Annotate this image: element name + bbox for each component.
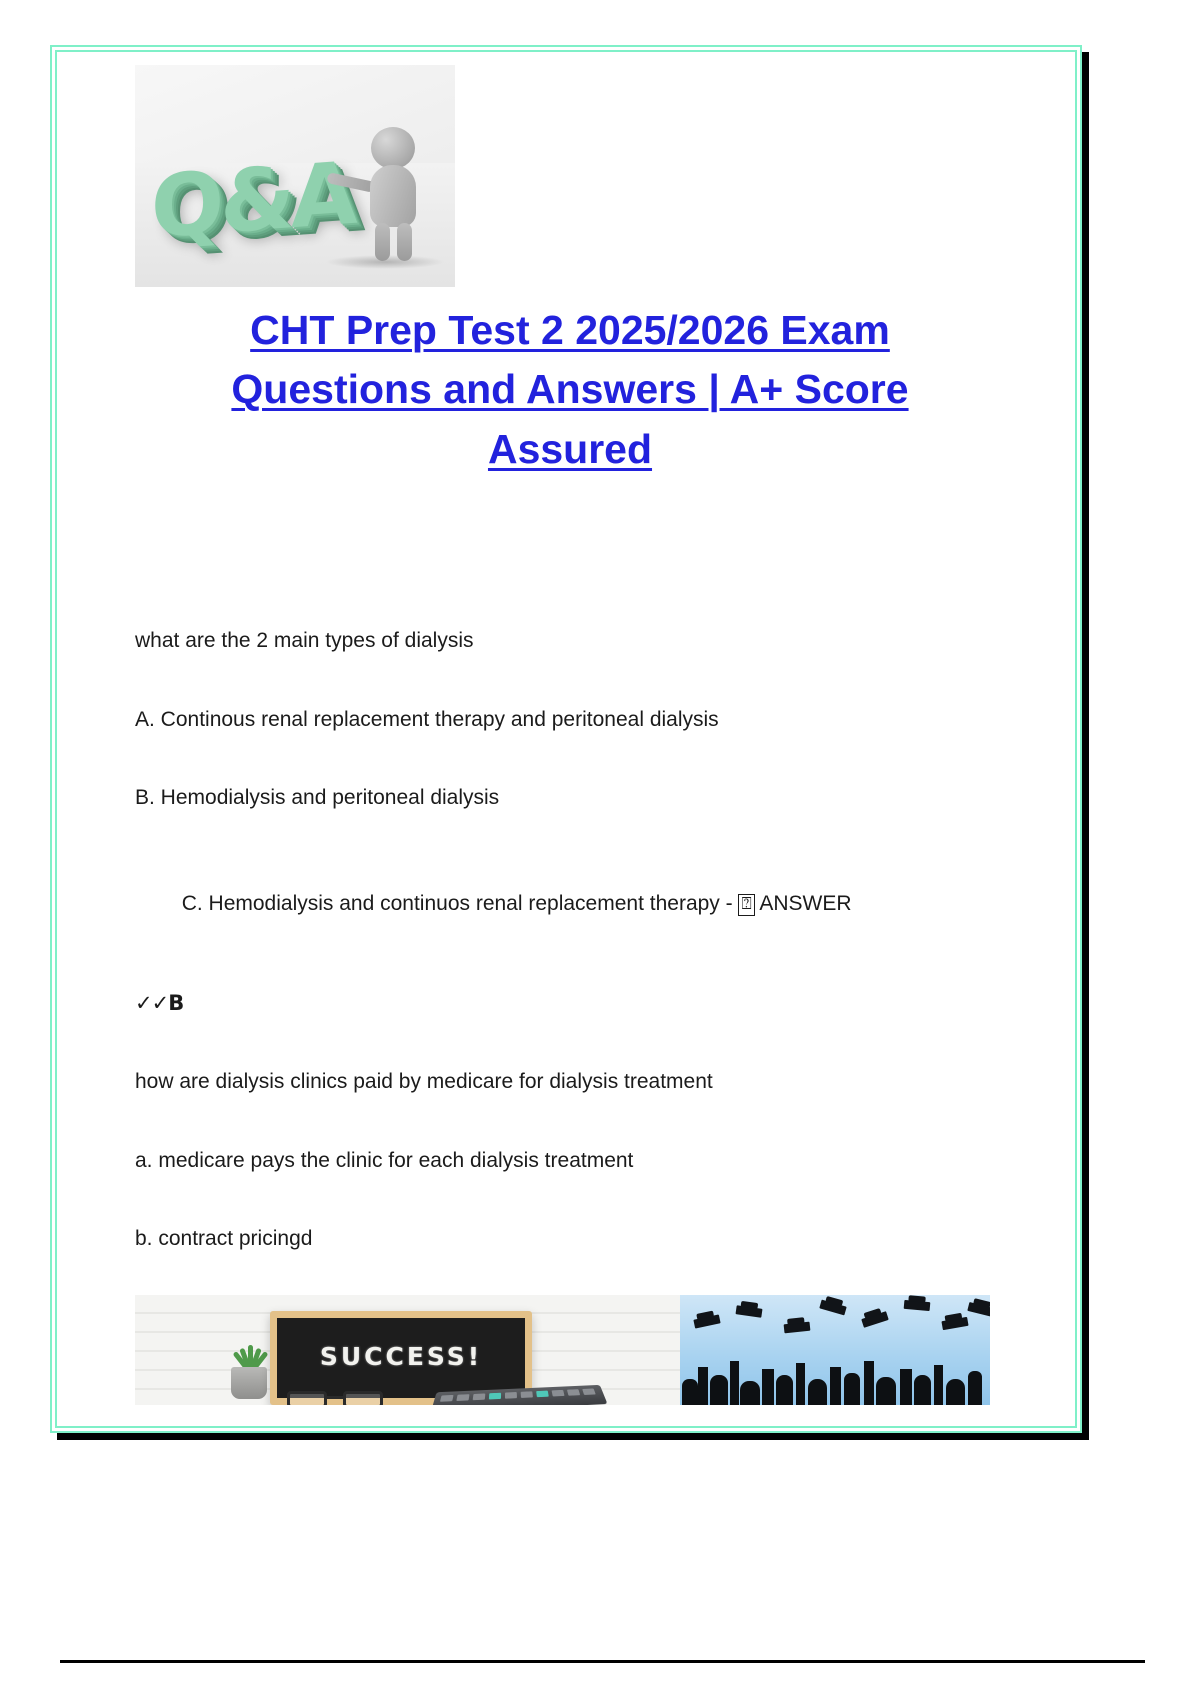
qa-letters-text: Q&A xyxy=(151,144,354,258)
grad-cap-icon xyxy=(941,1317,968,1330)
plant-pot-icon xyxy=(231,1367,267,1399)
question-1-option-c-text: C. Hemodialysis and continuos renal repl… xyxy=(182,892,739,915)
chalkboard-text: SUCCESS! xyxy=(277,1342,525,1371)
success-chalkboard-image: SUCCESS! xyxy=(135,1295,680,1405)
question-1-option-a: A. Continous renal replacement therapy a… xyxy=(135,706,1005,733)
grad-cap-icon xyxy=(967,1302,990,1317)
grad-cap-icon xyxy=(784,1322,811,1334)
question-1-stem: what are the 2 main types of dialysis xyxy=(135,627,1005,654)
graduation-caps-image xyxy=(680,1295,990,1405)
page-title: CHT Prep Test 2 2025/2026 Exam Questions… xyxy=(135,301,1005,479)
grad-cap-icon xyxy=(904,1300,931,1311)
eyeglasses-icon xyxy=(287,1391,397,1405)
qa-figure-head xyxy=(371,127,415,169)
qa-letters-image: Q&A xyxy=(135,65,455,287)
page-content: Q&A CHT Prep Test 2 2025/2026 Exam Quest… xyxy=(135,65,1005,1436)
question-2-option-a: a. medicare pays the clinic for each dia… xyxy=(135,1147,1005,1174)
qa-figure-body xyxy=(370,165,416,227)
footer-image-strip: SUCCESS! xyxy=(135,1295,990,1405)
question-1-option-b: B. Hemodialysis and peritoneal dialysis xyxy=(135,784,1005,811)
question-body: what are the 2 main types of dialysis A.… xyxy=(135,627,1005,1385)
grad-cap-icon xyxy=(736,1305,763,1318)
grad-cap-icon xyxy=(819,1300,846,1316)
qa-figure-leg-right xyxy=(397,223,412,261)
page-footer-rule xyxy=(60,1660,1145,1663)
grad-cap-icon xyxy=(861,1311,889,1328)
question-2-option-b: b. contract pricingd xyxy=(135,1225,1005,1252)
document-page: Q&A CHT Prep Test 2 2025/2026 Exam Quest… xyxy=(50,45,1082,1433)
grad-cap-icon xyxy=(693,1314,720,1328)
question-1-option-c: C. Hemodialysis and continuos renal repl… xyxy=(135,862,1005,944)
qa-figure-leg-left xyxy=(375,223,390,261)
question-1-answer-value: ✓✓B xyxy=(135,990,1005,1017)
graduate-crowd-silhouette xyxy=(680,1359,990,1405)
qa-figure-icon xyxy=(357,127,431,259)
missing-glyph-icon: ⍰ xyxy=(738,894,754,916)
question-2-stem: how are dialysis clinics paid by medicar… xyxy=(135,1068,1005,1095)
question-1-answer-label: ANSWER xyxy=(755,892,852,915)
